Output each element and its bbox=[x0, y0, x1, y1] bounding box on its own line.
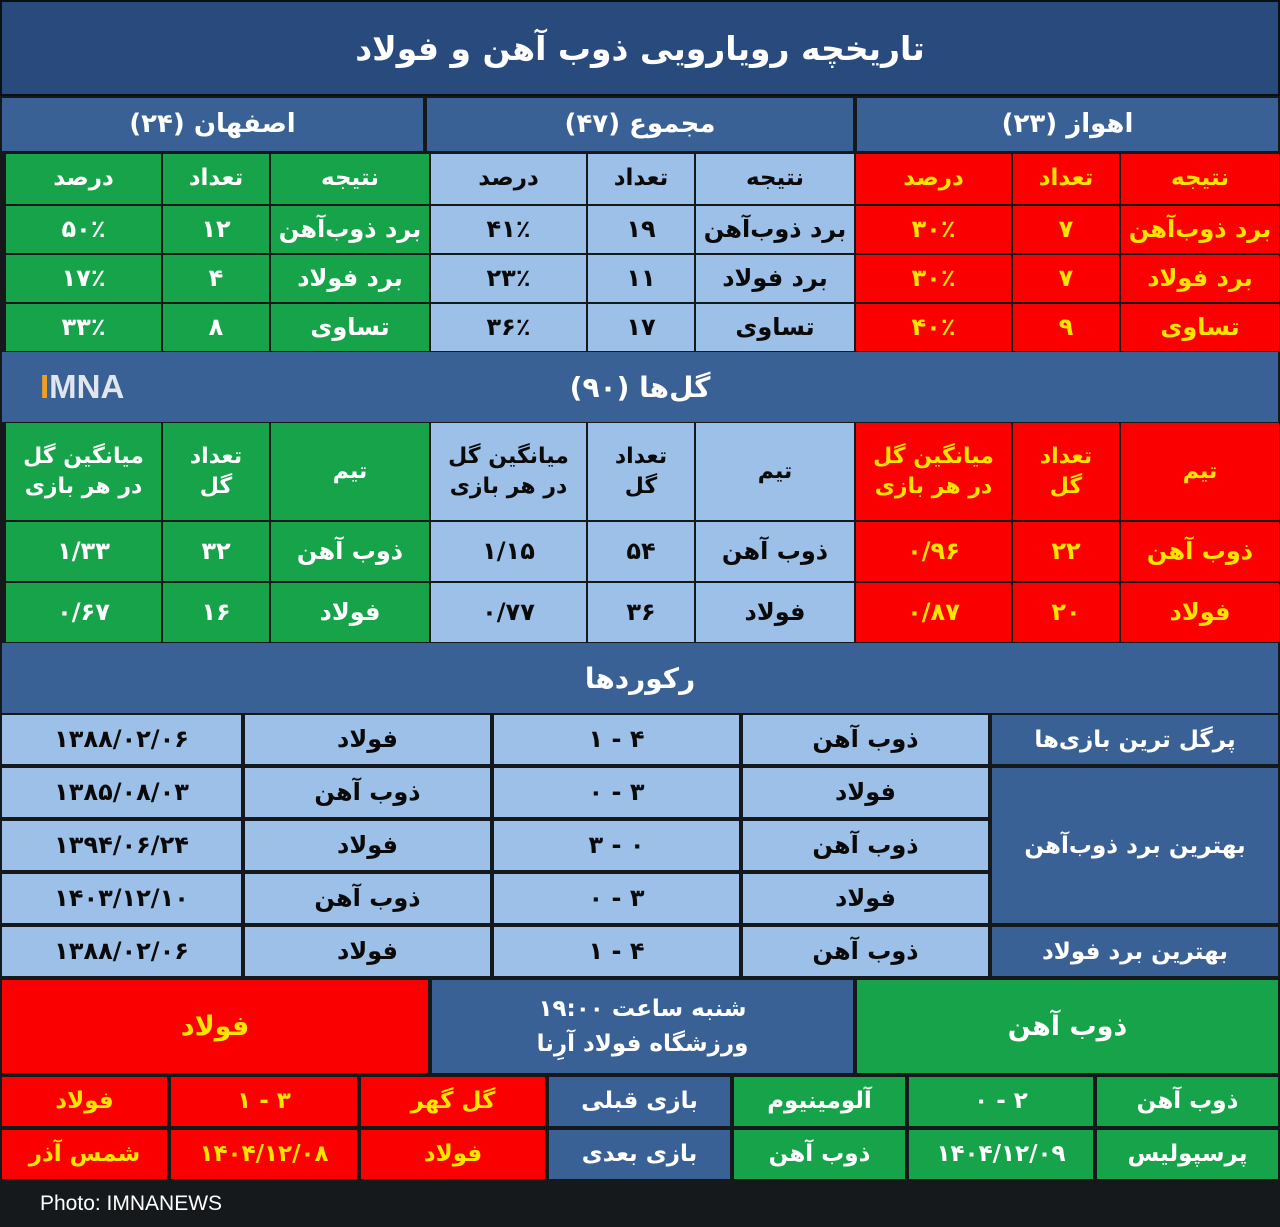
col-header-avg-isfahan: میانگین گلدر هر بازی bbox=[5, 422, 162, 521]
goal-avg-line1: میانگین گل bbox=[448, 444, 569, 469]
records-block-label: بهترین برد ذوب‌آهن bbox=[990, 766, 1280, 925]
col-header-count-ahvaz: تعداد bbox=[1012, 153, 1120, 205]
record-score: ۴ - ۱ bbox=[492, 925, 741, 978]
fixture-venue: ورزشگاه فولاد آرِنا bbox=[537, 1027, 749, 1062]
goals-count: ۲۲ bbox=[1012, 521, 1120, 582]
col-header-percent-isfahan: درصد bbox=[5, 153, 162, 205]
result-percent: ۳۳٪ bbox=[5, 303, 162, 352]
record-date: ۱۳۸۵/۰۸/۰۳ bbox=[0, 766, 243, 819]
result-percent: ۲۳٪ bbox=[430, 254, 587, 303]
goal-count-line1: تعداد bbox=[1040, 444, 1092, 469]
col-header-count-isfahan: تعداد bbox=[162, 153, 270, 205]
record-date: ۱۴۰۳/۱۲/۱۰ bbox=[0, 872, 243, 925]
page-title: تاریخچه رویارویی ذوب آهن و فولاد bbox=[355, 29, 925, 68]
col-header-count-total: تعداد bbox=[587, 153, 695, 205]
col-header-result-total: نتیجه bbox=[695, 153, 855, 205]
table-row: برد فولاد ۷ ۳۰٪ برد فولاد ۱۱ ۲۳٪ برد فول… bbox=[0, 254, 1280, 303]
table-row: ذوب آهن ۴ - ۱ فولاد ۱۳۸۸/۰۲/۰۶ bbox=[0, 925, 990, 978]
imna-logo-accent: I bbox=[40, 368, 49, 405]
result-label: برد فولاد bbox=[1120, 254, 1280, 303]
col-header-goals-ahvaz: تعدادگل bbox=[1012, 422, 1120, 521]
previous-match-row: ذوب آهن ۲ - ۰ آلومینیوم بازی قبلی گل گهر… bbox=[0, 1075, 1280, 1128]
goals-count: ۳۶ bbox=[587, 582, 695, 643]
table-row: تساوی ۹ ۴۰٪ تساوی ۱۷ ۳۶٪ تساوی ۸ ۳۳٪ bbox=[0, 303, 1280, 352]
col-header-team-ahvaz: تیم bbox=[1120, 422, 1280, 521]
result-count: ۷ bbox=[1012, 205, 1120, 254]
result-label: برد فولاد bbox=[270, 254, 430, 303]
goals-section-header: گل‌ها (۹۰) IMNA bbox=[0, 352, 1280, 422]
goal-count-line2: گل bbox=[625, 474, 657, 499]
next-away-team: فولاد bbox=[359, 1128, 547, 1181]
table-row: فولاد ۳ - ۰ ذوب آهن ۱۳۸۵/۰۸/۰۳ bbox=[0, 766, 990, 819]
col-header-goals-isfahan: تعدادگل bbox=[162, 422, 270, 521]
next-home-opponent-right: پرسپولیس bbox=[1095, 1128, 1280, 1181]
record-away-team: ذوب آهن bbox=[741, 819, 990, 872]
goals-header-row: تیم تعدادگل میانگین گلدر هر بازی تیم تعد… bbox=[0, 422, 1280, 521]
venue-header-total: مجموع (۴۷) bbox=[425, 96, 855, 153]
record-home-team: فولاد bbox=[243, 819, 492, 872]
record-away-team: ذوب آهن bbox=[741, 925, 990, 978]
table-row: فولاد ۲۰ ۰/۸۷ فولاد ۳۶ ۰/۷۷ فولاد ۱۶ ۰/۶… bbox=[0, 582, 1280, 643]
goals-team: ذوب آهن bbox=[270, 521, 430, 582]
records-block: بهترین برد ذوب‌آهن فولاد ۳ - ۰ ذوب آهن ۱… bbox=[0, 766, 1280, 925]
table-row: ذوب آهن ۲۲ ۰/۹۶ ذوب آهن ۵۴ ۱/۱۵ ذوب آهن … bbox=[0, 521, 1280, 582]
goals-average: ۰/۸۷ bbox=[855, 582, 1012, 643]
fixture-banner: ذوب آهن شنبه ساعت ۱۹:۰۰ ورزشگاه فولاد آر… bbox=[0, 978, 1280, 1075]
record-home-team: ذوب آهن bbox=[243, 872, 492, 925]
record-away-team: فولاد bbox=[741, 872, 990, 925]
goals-team: ذوب آهن bbox=[1120, 521, 1280, 582]
prev-home-opponent: آلومینیوم bbox=[732, 1075, 907, 1128]
result-label: برد ذوب‌آهن bbox=[1120, 205, 1280, 254]
result-percent: ۱۷٪ bbox=[5, 254, 162, 303]
result-count: ۱۲ bbox=[162, 205, 270, 254]
record-score: ۳ - ۰ bbox=[492, 872, 741, 925]
next-match-label: بازی بعدی bbox=[547, 1128, 732, 1181]
prev-away-score: ۳ - ۱ bbox=[169, 1075, 359, 1128]
col-header-percent-ahvaz: درصد bbox=[855, 153, 1012, 205]
goal-count-line2: گل bbox=[200, 474, 232, 499]
record-away-team: فولاد bbox=[741, 766, 990, 819]
goal-count-line2: گل bbox=[1050, 474, 1082, 499]
venue-header-row: اهواز (۲۳) مجموع (۴۷) اصفهان (۲۴) bbox=[0, 96, 1280, 153]
goals-average: ۱/۱۵ bbox=[430, 521, 587, 582]
result-label: تساوی bbox=[695, 303, 855, 352]
next-away-opponent: شمس آذر bbox=[0, 1128, 169, 1181]
prev-home-score: ۲ - ۰ bbox=[907, 1075, 1095, 1128]
result-count: ۱۷ bbox=[587, 303, 695, 352]
next-away-date: ۱۴۰۴/۱۲/۰۸ bbox=[169, 1128, 359, 1181]
venue-header-ahvaz: اهواز (۲۳) bbox=[855, 96, 1280, 153]
goal-count-line1: تعداد bbox=[615, 444, 667, 469]
col-header-team-isfahan: تیم bbox=[270, 422, 430, 521]
result-count: ۸ bbox=[162, 303, 270, 352]
record-score: ۰ - ۳ bbox=[492, 819, 741, 872]
col-header-avg-ahvaz: میانگین گلدر هر بازی bbox=[855, 422, 1012, 521]
records-block: پرگل ترین بازی‌ها ذوب آهن ۴ - ۱ فولاد ۱۳… bbox=[0, 713, 1280, 766]
result-percent: ۳۰٪ bbox=[855, 205, 1012, 254]
col-header-goals-total: تعدادگل bbox=[587, 422, 695, 521]
goals-count: ۳۲ bbox=[162, 521, 270, 582]
goal-avg-line2: در هر بازی bbox=[450, 474, 568, 499]
record-home-team: فولاد bbox=[243, 925, 492, 978]
goals-team: فولاد bbox=[1120, 582, 1280, 643]
col-header-team-total: تیم bbox=[695, 422, 855, 521]
record-home-team: ذوب آهن bbox=[243, 766, 492, 819]
records-block: بهترین برد فولاد ذوب آهن ۴ - ۱ فولاد ۱۳۸… bbox=[0, 925, 1280, 978]
col-header-avg-total: میانگین گلدر هر بازی bbox=[430, 422, 587, 521]
goals-team: فولاد bbox=[695, 582, 855, 643]
goal-avg-line1: میانگین گل bbox=[23, 444, 144, 469]
record-date: ۱۳۸۸/۰۲/۰۶ bbox=[0, 713, 243, 766]
page-title-bar: تاریخچه رویارویی ذوب آهن و فولاد bbox=[0, 0, 1280, 96]
goal-count-line1: تعداد bbox=[190, 444, 242, 469]
col-header-percent-total: درصد bbox=[430, 153, 587, 205]
records-block-label: پرگل ترین بازی‌ها bbox=[990, 713, 1280, 766]
result-count: ۷ bbox=[1012, 254, 1120, 303]
imna-logo: IMNA bbox=[40, 368, 124, 406]
prev-away-team: فولاد bbox=[0, 1075, 169, 1128]
result-label: برد ذوب‌آهن bbox=[270, 205, 430, 254]
goals-count: ۱۶ bbox=[162, 582, 270, 643]
record-score: ۴ - ۱ bbox=[492, 713, 741, 766]
records-block-label: بهترین برد فولاد bbox=[990, 925, 1280, 978]
goals-count: ۵۴ bbox=[587, 521, 695, 582]
result-percent: ۵۰٪ bbox=[5, 205, 162, 254]
result-count: ۱۹ bbox=[587, 205, 695, 254]
fixture-home-team: ذوب آهن bbox=[855, 978, 1280, 1075]
goals-average: ۰/۷۷ bbox=[430, 582, 587, 643]
next-home-team: ذوب آهن bbox=[732, 1128, 907, 1181]
result-percent: ۴۰٪ bbox=[855, 303, 1012, 352]
goals-average: ۰/۶۷ bbox=[5, 582, 162, 643]
result-label: تساوی bbox=[270, 303, 430, 352]
next-match-row: پرسپولیس ۱۴۰۴/۱۲/۰۹ ذوب آهن بازی بعدی فو… bbox=[0, 1128, 1280, 1181]
photo-credit-bar: Photo: IMNANEWS bbox=[0, 1181, 1280, 1227]
photo-credit-text: Photo: IMNANEWS bbox=[40, 1192, 222, 1216]
table-row: فولاد ۳ - ۰ ذوب آهن ۱۴۰۳/۱۲/۱۰ bbox=[0, 872, 990, 925]
infographic-root: تاریخچه رویارویی ذوب آهن و فولاد اهواز (… bbox=[0, 0, 1280, 1223]
table-row: ذوب آهن ۴ - ۱ فولاد ۱۳۸۸/۰۲/۰۶ bbox=[0, 713, 990, 766]
result-count: ۴ bbox=[162, 254, 270, 303]
records-section-title: رکوردها bbox=[585, 662, 695, 695]
records-section-header: رکوردها bbox=[0, 643, 1280, 713]
col-header-result-isfahan: نتیجه bbox=[270, 153, 430, 205]
result-percent: ۳۶٪ bbox=[430, 303, 587, 352]
next-home-date: ۱۴۰۴/۱۲/۰۹ bbox=[907, 1128, 1095, 1181]
result-label: تساوی bbox=[1120, 303, 1280, 352]
fixture-away-team: فولاد bbox=[0, 978, 430, 1075]
result-percent: ۴۱٪ bbox=[430, 205, 587, 254]
table-row: برد ذوب‌آهن ۷ ۳۰٪ برد ذوب‌آهن ۱۹ ۴۱٪ برد… bbox=[0, 205, 1280, 254]
goal-avg-line1: میانگین گل bbox=[873, 444, 994, 469]
venue-header-isfahan: اصفهان (۲۴) bbox=[0, 96, 425, 153]
result-label: برد فولاد bbox=[695, 254, 855, 303]
goals-section-title: گل‌ها (۹۰) bbox=[2, 352, 1278, 422]
record-away-team: ذوب آهن bbox=[741, 713, 990, 766]
result-label: برد ذوب‌آهن bbox=[695, 205, 855, 254]
goal-avg-line2: در هر بازی bbox=[875, 474, 993, 499]
result-percent: ۳۰٪ bbox=[855, 254, 1012, 303]
goals-team: ذوب آهن bbox=[695, 521, 855, 582]
record-date: ۱۳۸۸/۰۲/۰۶ bbox=[0, 925, 243, 978]
result-count: ۹ bbox=[1012, 303, 1120, 352]
goals-team: فولاد bbox=[270, 582, 430, 643]
fixture-datetime: شنبه ساعت ۱۹:۰۰ bbox=[538, 992, 746, 1027]
imna-logo-text: MNA bbox=[49, 368, 124, 405]
prev-home-opponent-right: ذوب آهن bbox=[1095, 1075, 1280, 1128]
goals-average: ۰/۹۶ bbox=[855, 521, 1012, 582]
col-header-result-ahvaz: نتیجه bbox=[1120, 153, 1280, 205]
result-count: ۱۱ bbox=[587, 254, 695, 303]
goals-average: ۱/۳۳ bbox=[5, 521, 162, 582]
fixture-details: شنبه ساعت ۱۹:۰۰ ورزشگاه فولاد آرِنا bbox=[430, 978, 855, 1075]
goals-count: ۲۰ bbox=[1012, 582, 1120, 643]
prev-away-opponent: گل گهر bbox=[359, 1075, 547, 1128]
table-row: ذوب آهن ۰ - ۳ فولاد ۱۳۹۴/۰۶/۲۴ bbox=[0, 819, 990, 872]
results-header-row: نتیجه تعداد درصد نتیجه تعداد درصد نتیجه … bbox=[0, 153, 1280, 205]
record-home-team: فولاد bbox=[243, 713, 492, 766]
record-date: ۱۳۹۴/۰۶/۲۴ bbox=[0, 819, 243, 872]
prev-match-label: بازی قبلی bbox=[547, 1075, 732, 1128]
goal-avg-line2: در هر بازی bbox=[25, 474, 143, 499]
record-score: ۳ - ۰ bbox=[492, 766, 741, 819]
